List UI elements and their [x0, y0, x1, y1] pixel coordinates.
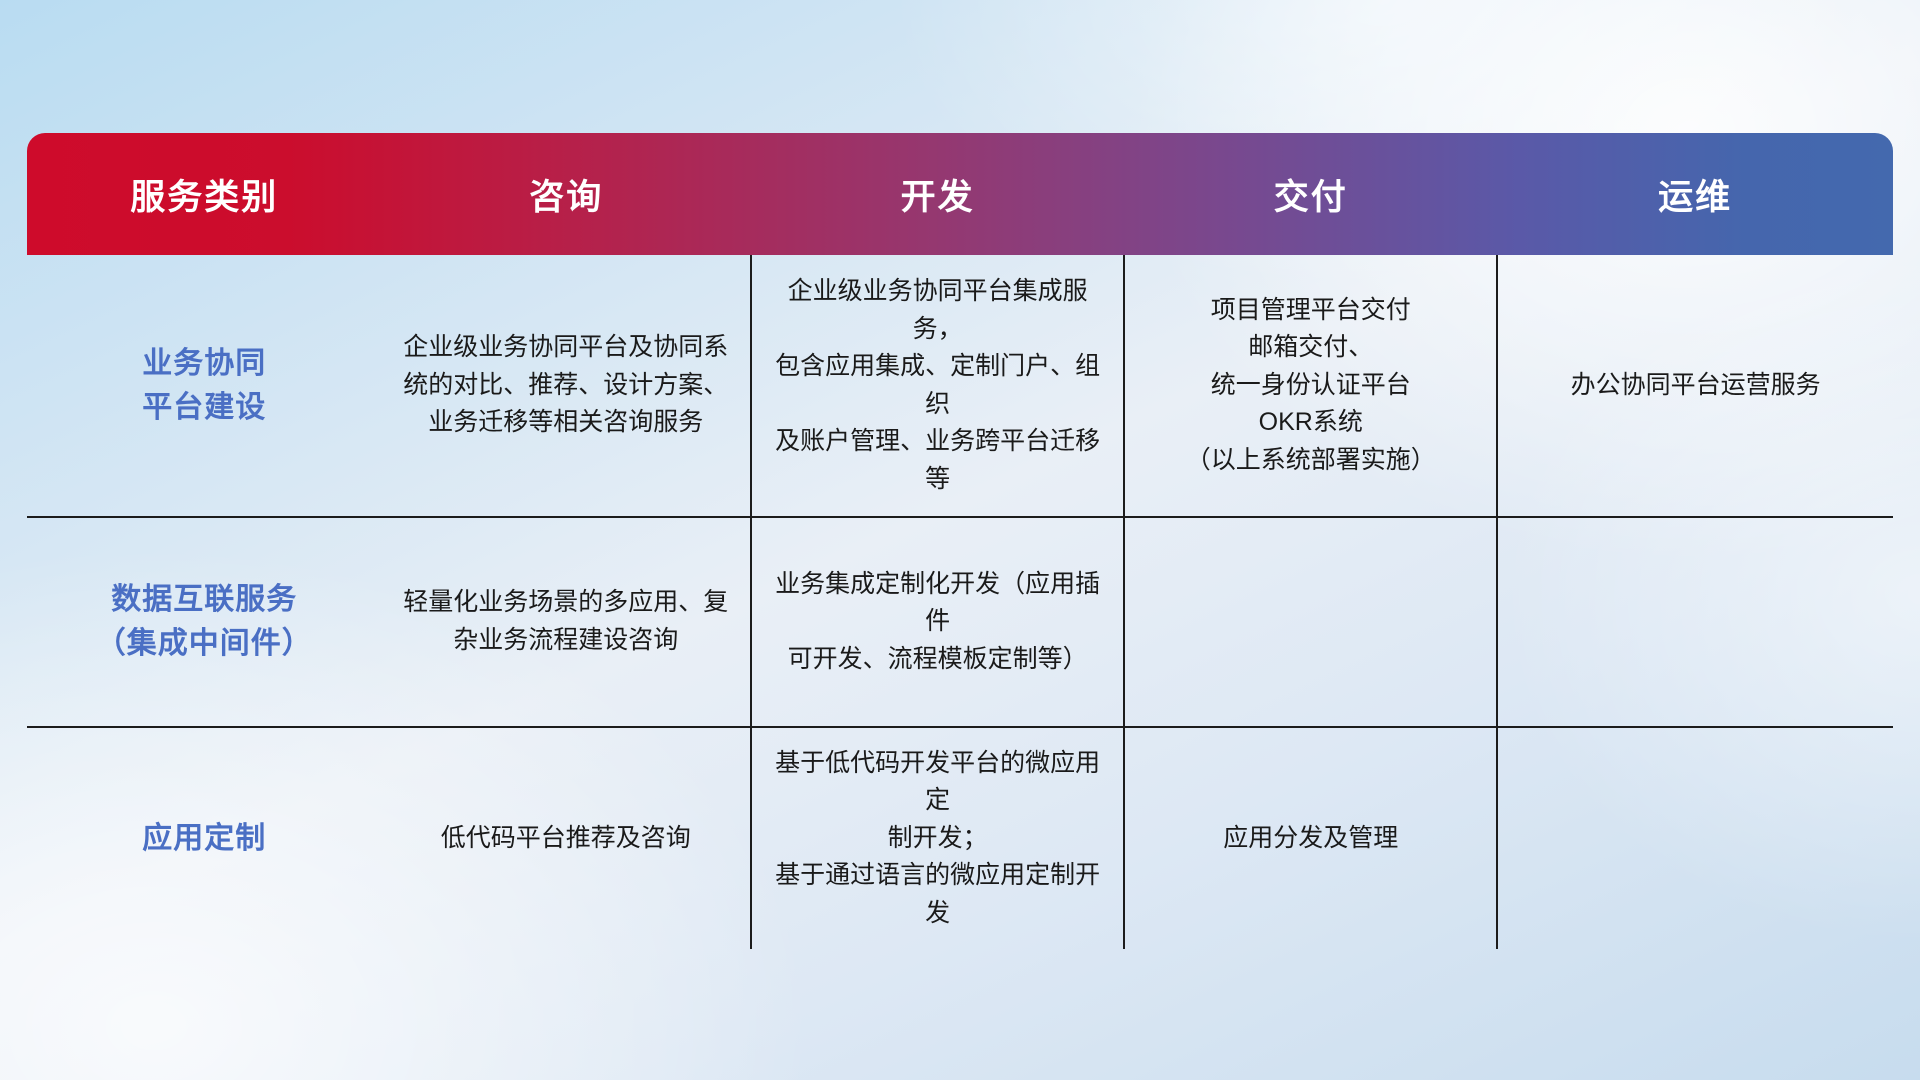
- cell-consulting: 低代码平台推荐及咨询: [382, 727, 751, 949]
- cell-operations: [1497, 517, 1893, 727]
- cell-delivery: 项目管理平台交付 邮箱交付、 统一身份认证平台 OKR系统 （以上系统部署实施）: [1124, 255, 1497, 517]
- cell-operations: [1497, 727, 1893, 949]
- cell-category: 业务协同 平台建设: [27, 255, 382, 517]
- header-cell-service-category: 服务类别: [27, 133, 382, 255]
- cell-development: 基于低代码开发平台的微应用定 制开发； 基于通过语言的微应用定制开发: [751, 727, 1124, 949]
- table-row: 业务协同 平台建设 企业级业务协同平台及协同系 统的对比、推荐、设计方案、 业务…: [27, 255, 1893, 517]
- header-cell-consulting: 咨询: [382, 133, 751, 255]
- service-matrix-container: 服务类别 咨询 开发 交付 运维 业务协同 平台建设 企业级业务协同平台及协同: [27, 133, 1893, 949]
- header-label-consulting: 咨询: [529, 178, 603, 217]
- table-row: 数据互联服务 （集成中间件） 轻量化业务场景的多应用、复 杂业务流程建设咨询 业…: [27, 517, 1893, 727]
- header-row: 服务类别 咨询 开发 交付 运维: [27, 133, 1893, 255]
- cell-category: 应用定制: [27, 727, 382, 949]
- header-label-delivery: 交付: [1274, 178, 1348, 217]
- header-label-service-category: 服务类别: [130, 178, 278, 217]
- header-cell-operations: 运维: [1497, 133, 1893, 255]
- cell-consulting: 企业级业务协同平台及协同系 统的对比、推荐、设计方案、 业务迁移等相关咨询服务: [382, 255, 751, 517]
- header-cell-development: 开发: [751, 133, 1124, 255]
- service-matrix-table: 服务类别 咨询 开发 交付 运维 业务协同 平台建设 企业级业务协同平台及协同: [27, 133, 1893, 949]
- cell-delivery: [1124, 517, 1497, 727]
- table-body: 业务协同 平台建设 企业级业务协同平台及协同系 统的对比、推荐、设计方案、 业务…: [27, 255, 1893, 949]
- cell-development: 企业级业务协同平台集成服务， 包含应用集成、定制门户、组织 及账户管理、业务跨平…: [751, 255, 1124, 517]
- cell-delivery: 应用分发及管理: [1124, 727, 1497, 949]
- header-label-development: 开发: [901, 178, 975, 217]
- cell-development: 业务集成定制化开发（应用插件 可开发、流程模板定制等）: [751, 517, 1124, 727]
- table-header: 服务类别 咨询 开发 交付 运维: [27, 133, 1893, 255]
- header-cell-delivery: 交付: [1124, 133, 1497, 255]
- header-label-operations: 运维: [1658, 178, 1732, 217]
- cell-category: 数据互联服务 （集成中间件）: [27, 517, 382, 727]
- cell-consulting: 轻量化业务场景的多应用、复 杂业务流程建设咨询: [382, 517, 751, 727]
- table-row: 应用定制 低代码平台推荐及咨询 基于低代码开发平台的微应用定 制开发； 基于通过…: [27, 727, 1893, 949]
- cell-operations: 办公协同平台运营服务: [1497, 255, 1893, 517]
